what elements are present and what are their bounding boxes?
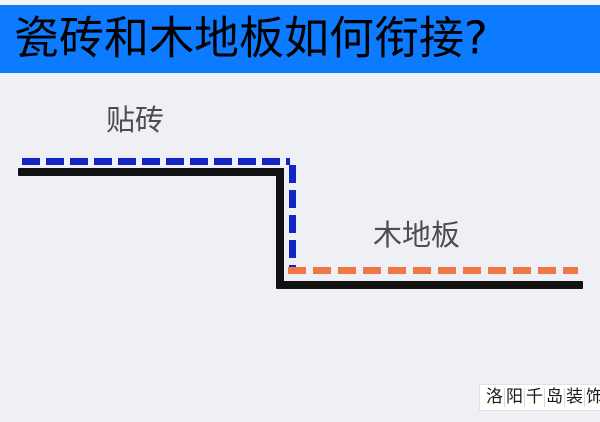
substrate-line-riser [276, 168, 284, 288]
substrate-line-upper [18, 168, 284, 176]
watermark-char: 阳 [504, 388, 524, 407]
watermark: 洛 阳 千 岛 装 饰 [479, 384, 600, 411]
watermark-char: 装 [564, 388, 584, 407]
watermark-char: 洛 [485, 388, 504, 407]
watermark-char: 千 [524, 388, 544, 407]
watermark-char: 岛 [544, 388, 564, 407]
tile-surface-dashed-line [22, 158, 290, 165]
watermark-char: 饰 [584, 388, 600, 407]
tile-edge-dashed-line [289, 165, 296, 267]
page-title: 瓷砖和木地板如何衔接? [14, 16, 488, 61]
title-banner: 瓷砖和木地板如何衔接? [0, 5, 600, 73]
label-tile: 贴砖 [106, 106, 164, 135]
substrate-line-lower [276, 281, 583, 289]
wood-floor-dashed-line [288, 267, 578, 274]
diagram-canvas: 贴砖 木地板 [0, 74, 600, 422]
label-wood-floor: 木地板 [373, 221, 460, 250]
diagram-page: 瓷砖和木地板如何衔接? 贴砖 木地板 洛 阳 千 岛 装 饰 [0, 0, 600, 422]
